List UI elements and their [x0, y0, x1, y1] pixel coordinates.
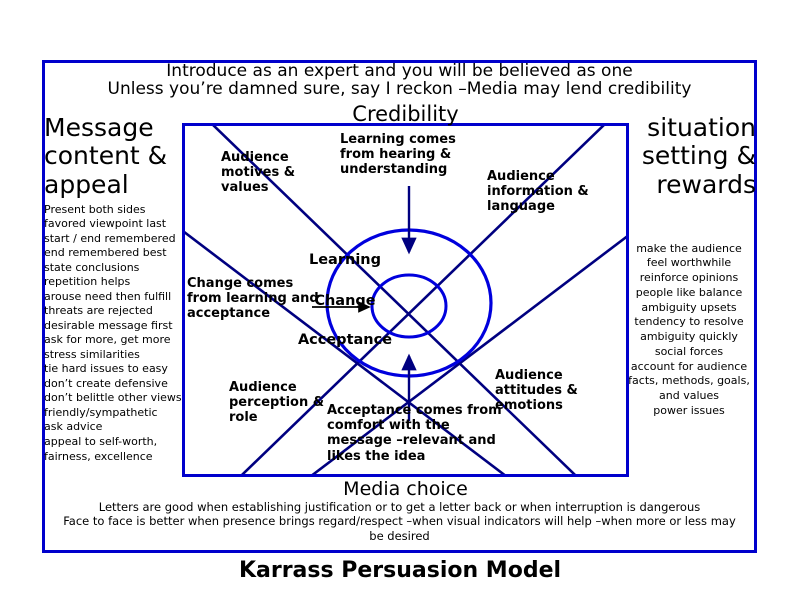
- list-item: power issues: [622, 404, 756, 419]
- list-item: ask advice: [44, 420, 184, 435]
- list-item: people like balance: [622, 286, 756, 301]
- media-choice-line-1: Letters are good when establishing justi…: [46, 500, 753, 514]
- right-title-line-1: situation: [622, 114, 756, 142]
- core-label-acceptance: Acceptance: [278, 332, 412, 348]
- list-item: desirable message first: [44, 319, 184, 334]
- list-item: start / end remembered: [44, 232, 184, 247]
- spoke-label-learning-source: Learning comes from hearing & understand…: [340, 132, 488, 178]
- list-item: state conclusions: [44, 261, 184, 276]
- right-column-list: make the audience feel worthwhile reinfo…: [622, 242, 756, 419]
- left-column-list: Present both sides favored viewpoint las…: [44, 203, 184, 464]
- list-item: friendly/sympathetic: [44, 406, 184, 421]
- list-item: ambiguity upsets: [622, 301, 756, 316]
- list-item: end remembered best: [44, 246, 184, 261]
- left-title-line-3: appeal: [44, 171, 184, 199]
- media-choice-line-2: Face to face is better when presence bri…: [46, 514, 753, 528]
- list-item: facts, methods, goals,: [622, 374, 756, 389]
- list-item: favored viewpoint last: [44, 217, 184, 232]
- list-item: social forces: [622, 345, 756, 360]
- left-column: Message content & appeal Present both si…: [44, 114, 184, 464]
- list-item: threats are rejected: [44, 304, 184, 319]
- list-item: repetition helps: [44, 275, 184, 290]
- media-choice-line-3: be desired: [46, 529, 753, 543]
- list-item: stress similarities: [44, 348, 184, 363]
- list-item: ambiguity quickly: [622, 330, 756, 345]
- list-item: arouse need then fulfill: [44, 290, 184, 305]
- list-item: and values: [622, 389, 756, 404]
- list-item: Present both sides: [44, 203, 184, 218]
- list-item: don’t create defensive: [44, 377, 184, 392]
- list-item: fairness, excellence: [44, 450, 184, 465]
- list-item: ask for more, get more: [44, 333, 184, 348]
- list-item: account for audience: [622, 360, 756, 375]
- left-title-line-2: content &: [44, 142, 184, 170]
- media-choice-body: Letters are good when establishing justi…: [46, 500, 753, 543]
- core-label-learning: Learning: [285, 252, 405, 268]
- list-item: appeal to self-worth,: [44, 435, 184, 450]
- headline-line-2: Unless you’re damned sure, say I reckon …: [45, 80, 754, 98]
- right-title-line-2: setting &: [622, 142, 756, 170]
- spoke-label-audience-perception: Audience perception & role: [229, 380, 339, 426]
- left-column-title: Message content & appeal: [44, 114, 184, 199]
- right-column-title: situation setting & rewards: [622, 114, 756, 199]
- spoke-label-audience-information: Audience information & language: [487, 169, 623, 215]
- spoke-label-change-source: Change comes from learning and acceptanc…: [187, 276, 327, 322]
- right-title-line-3: rewards: [622, 171, 756, 199]
- page-title: Karrass Persuasion Model: [0, 558, 800, 583]
- right-column: situation setting & rewards make the aud…: [622, 114, 756, 419]
- list-item: tie hard issues to easy: [44, 362, 184, 377]
- media-choice-title: Media choice: [182, 478, 629, 500]
- left-title-line-1: Message: [44, 114, 184, 142]
- list-item: reinforce opinions: [622, 271, 756, 286]
- spoke-label-acceptance-source: Acceptance comes from comfort with the m…: [327, 403, 517, 464]
- headline-line-1: Introduce as an expert and you will be b…: [45, 62, 754, 80]
- spoke-label-audience-motives: Audience motives & values: [221, 150, 333, 196]
- headline-block: Introduce as an expert and you will be b…: [45, 62, 754, 99]
- credibility-label: Credibility: [182, 102, 629, 126]
- spoke-label-audience-attitudes: Audience attitudes & emotions: [495, 368, 615, 414]
- list-item: feel worthwhile: [622, 256, 756, 271]
- list-item: make the audience: [622, 242, 756, 257]
- list-item: don’t belittle other views: [44, 391, 184, 406]
- list-item: tendency to resolve: [622, 315, 756, 330]
